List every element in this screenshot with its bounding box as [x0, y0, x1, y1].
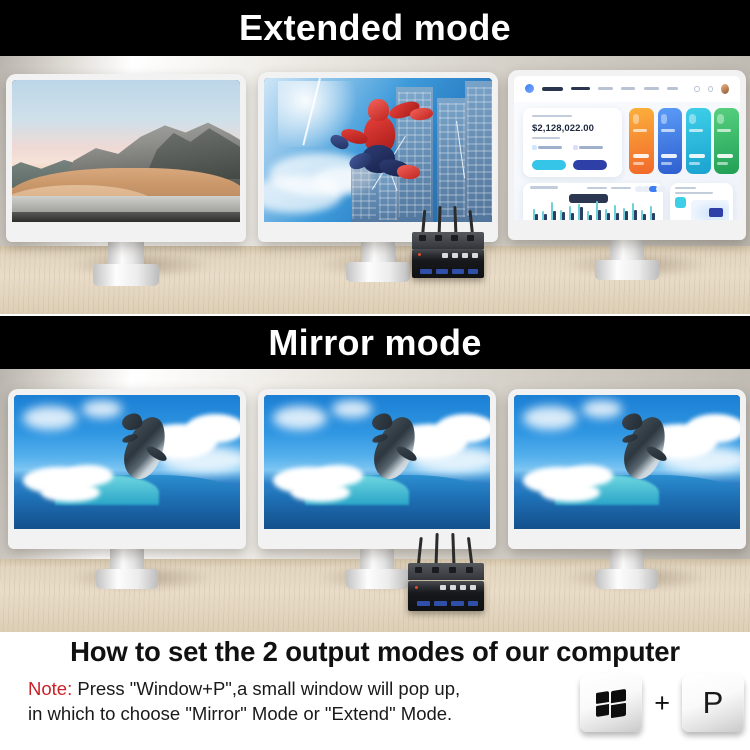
note-line-1: Note: Press "Window+P",a small window wi… — [28, 676, 548, 701]
coin-card-ethereum[interactable] — [658, 108, 683, 174]
kvm-usb-port — [420, 269, 432, 274]
balance-card: $2,128,022.00 — [523, 108, 622, 177]
monitor-stand-base — [346, 262, 410, 282]
monitor-screen — [8, 389, 246, 549]
kvm-button[interactable] — [462, 253, 468, 258]
monitor-stand-neck — [610, 549, 644, 569]
wallpaper-dolphin-leaping-wave — [14, 395, 240, 529]
dashboard-nav-wallets[interactable] — [621, 87, 635, 90]
note-label: Note: — [28, 678, 72, 699]
monitor-center-mirror — [258, 389, 496, 589]
scene-extended-mode: $2,128,022.00 — [0, 56, 750, 314]
kvm-usb-port — [436, 269, 448, 274]
dashboard-nav-dashboard[interactable] — [571, 87, 590, 90]
kvm-button[interactable] — [470, 585, 476, 590]
balance-subcaption — [532, 137, 560, 140]
monitor-stand-base — [595, 260, 659, 280]
monitor-right-extended: $2,128,022.00 — [508, 70, 746, 280]
monitor-screen — [508, 389, 746, 549]
support-card — [670, 183, 733, 220]
monitor-stand-neck — [108, 242, 144, 264]
kvm-led — [415, 586, 418, 589]
kvm-usb-port — [417, 601, 430, 606]
banner-extended-mode: Extended mode — [0, 0, 750, 56]
support-title — [675, 187, 697, 190]
send-button[interactable] — [573, 160, 607, 170]
kvm-usb-port — [468, 601, 478, 606]
wallpaper-mountain-landscape — [12, 80, 240, 222]
banner-mirror-label: Mirror mode — [268, 322, 481, 364]
legend-income — [587, 187, 607, 190]
balance-caption — [532, 115, 572, 118]
summary-chart-card — [523, 183, 663, 220]
support-subtitle — [675, 192, 713, 194]
monitor-stand-neck — [360, 549, 394, 569]
product-infographic: Extended mode — [0, 0, 750, 750]
subaccount-1-icon — [532, 145, 537, 150]
monitor-screen — [258, 72, 498, 242]
dashboard-logo-icon — [525, 84, 534, 93]
monitor-stand-base — [96, 569, 158, 589]
monitor-screen — [6, 74, 246, 242]
monitor-screen — [258, 389, 496, 549]
subaccount-2-value — [579, 146, 603, 149]
p-key-label: P — [703, 685, 724, 721]
support-illustration-screen — [709, 208, 723, 218]
kvm-button[interactable] — [472, 253, 478, 258]
wallpaper-spider-hero-city — [264, 78, 492, 222]
wallpaper-dolphin-leaping-wave — [264, 395, 490, 529]
howto-title: How to set the 2 output modes of our com… — [0, 636, 750, 668]
windows-key[interactable] — [580, 674, 642, 732]
note-sentence-1: Press "Window+P",a small window will pop… — [77, 678, 460, 699]
kvm-front-panel — [412, 249, 484, 278]
range-pill-1y[interactable] — [656, 186, 665, 192]
scene-mirror-mode — [0, 369, 750, 632]
kvm-button[interactable] — [452, 253, 458, 258]
kvm-usb-port — [451, 601, 464, 606]
kvm-usb-port — [434, 601, 447, 606]
kvm-button[interactable] — [440, 585, 446, 590]
dashboard-nav-exchange[interactable] — [598, 87, 614, 90]
kvm-front-panel — [408, 581, 484, 611]
legend-expense — [611, 187, 631, 190]
settings-icon[interactable] — [694, 86, 699, 92]
kvm-switch-extended — [412, 232, 484, 278]
kvm-usb-port — [468, 269, 478, 274]
chart-bars — [530, 196, 659, 220]
instruction-block: How to set the 2 output modes of our com… — [0, 632, 750, 750]
kvm-led — [418, 253, 421, 256]
banner-extended-label: Extended mode — [239, 7, 511, 49]
kvm-button[interactable] — [450, 585, 456, 590]
subaccount-2-icon — [573, 145, 578, 150]
deposit-button[interactable] — [532, 160, 566, 170]
monitor-stand-neck — [110, 549, 144, 569]
coin-card-bitcoin[interactable] — [629, 108, 654, 174]
monitor-screen: $2,128,022.00 — [508, 70, 746, 240]
kvm-usb-port — [452, 269, 464, 274]
monitor-stand-base — [346, 569, 408, 589]
banner-mirror-mode: Mirror mode — [0, 316, 750, 369]
bell-icon[interactable] — [708, 86, 713, 92]
note-line-2: in which to choose "Mirror" Mode or "Ext… — [28, 701, 548, 726]
support-icon — [675, 197, 686, 208]
monitor-left-extended — [6, 74, 246, 286]
keyboard-shortcut: + P — [580, 674, 744, 732]
windows-logo-icon — [596, 690, 626, 717]
kvm-top-panel — [412, 232, 484, 249]
avatar[interactable] — [721, 84, 729, 94]
dashboard-nav-accounts[interactable] — [644, 87, 660, 90]
chart-title — [530, 186, 558, 189]
p-key[interactable]: P — [682, 674, 744, 732]
subaccount-1-value — [538, 146, 562, 149]
note-text: Note: Press "Window+P",a small window wi… — [28, 676, 548, 726]
dashboard-brand — [542, 87, 562, 91]
monitor-stand-neck — [361, 242, 395, 262]
monitor-stand-base — [596, 569, 658, 589]
coin-card-ripple[interactable] — [686, 108, 711, 174]
balance-value: $2,128,022.00 — [532, 123, 594, 134]
monitor-stand-neck — [610, 240, 644, 260]
kvm-button[interactable] — [442, 253, 448, 258]
wallpaper-crypto-dashboard: $2,128,022.00 — [514, 76, 740, 220]
dashboard-navbar — [514, 76, 740, 102]
wallpaper-dolphin-leaping-wave — [514, 395, 740, 529]
kvm-switch-mirror — [408, 563, 484, 611]
kvm-button[interactable] — [460, 585, 466, 590]
monitor-stand-base — [93, 264, 159, 286]
plus-sign: + — [654, 688, 670, 719]
dashboard-nav-about[interactable] — [667, 87, 678, 90]
monitor-left-mirror — [8, 389, 246, 589]
kvm-top-panel — [408, 563, 484, 580]
coin-card-tether[interactable] — [714, 108, 739, 174]
monitor-right-mirror — [508, 389, 746, 589]
